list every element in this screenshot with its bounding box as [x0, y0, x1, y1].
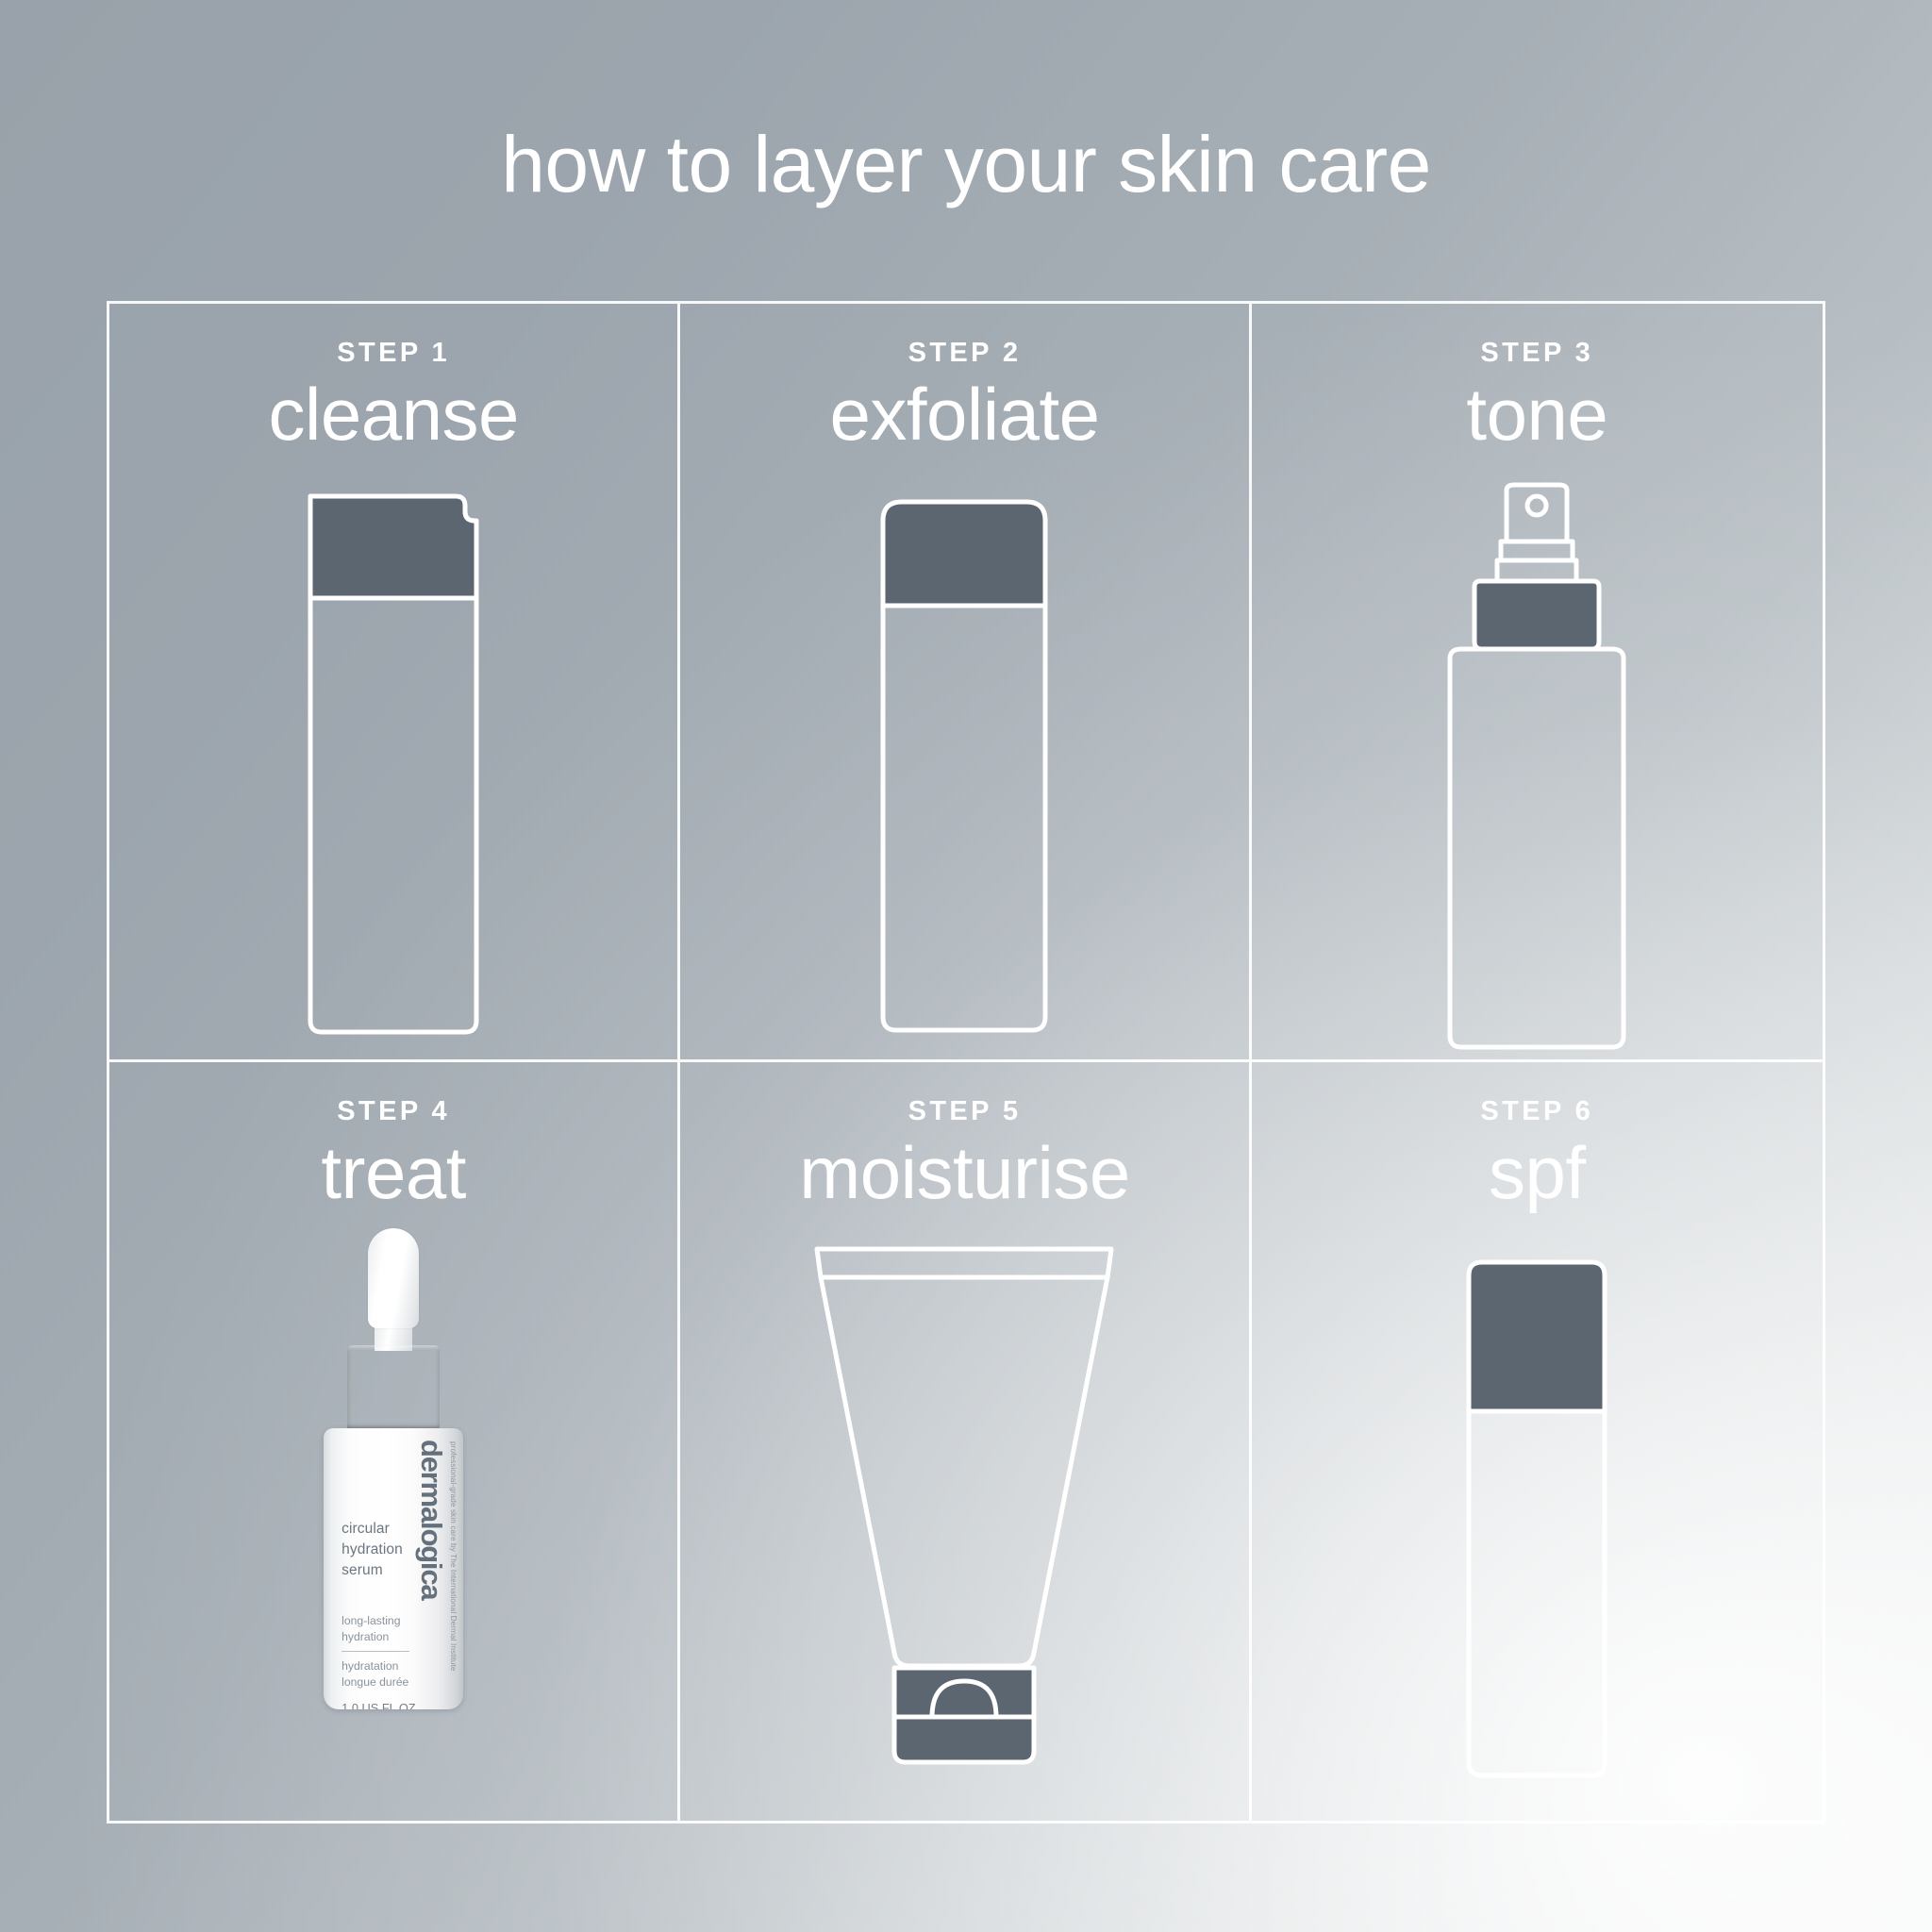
product-name-line: hydration [341, 1540, 403, 1560]
step-heading: STEP 1 cleanse [109, 340, 677, 454]
step-heading: STEP 4 treat [109, 1098, 677, 1212]
product-name: circular hydration serum [341, 1519, 403, 1581]
step-name: spf [1252, 1133, 1823, 1212]
step-card-tone[interactable]: STEP 3 tone [1252, 304, 1823, 1062]
step-name: treat [109, 1133, 677, 1212]
claim-english: long-lasting hydration [341, 1613, 400, 1645]
claim-line: hydration [341, 1629, 400, 1645]
step-heading: STEP 6 spf [1252, 1098, 1823, 1212]
product-illustration [680, 483, 1248, 1033]
volume-label: 1.0 US FL OZ 30 mL ℮ [341, 1700, 415, 1709]
page-title: how to layer your skin care [0, 125, 1932, 204]
moisturiser-tube-icon [804, 1241, 1124, 1770]
step-card-moisturise[interactable]: STEP 5 moisturise [680, 1062, 1251, 1821]
product-name-line: circular [341, 1519, 403, 1540]
bottle-body: dermalogica professional-grade skin care… [324, 1428, 463, 1709]
steps-grid: STEP 1 cleanse STEP 2 exfoliate [107, 301, 1825, 1824]
step-heading: STEP 3 tone [1252, 340, 1823, 454]
exfoliant-tube-icon [860, 483, 1068, 1049]
toner-spray-bottle-icon [1433, 483, 1641, 1068]
metallic-collar [347, 1345, 440, 1430]
brand-wordmark: dermalogica [417, 1440, 446, 1599]
step-kicker: STEP 1 [109, 340, 677, 367]
step-kicker: STEP 5 [680, 1098, 1248, 1125]
step-name: moisturise [680, 1133, 1248, 1212]
cleanser-bottle-icon [290, 483, 497, 1049]
step-name: cleanse [109, 375, 677, 454]
step-kicker: STEP 4 [109, 1098, 677, 1125]
claim-line: long-lasting [341, 1613, 400, 1629]
product-name-line: serum [341, 1560, 403, 1581]
step-card-exfoliate[interactable]: STEP 2 exfoliate [680, 304, 1251, 1062]
infographic-canvas: how to layer your skin care STEP 1 clean… [0, 0, 1932, 1932]
brand-tagline: professional-grade skin care by The Inte… [449, 1441, 457, 1672]
dropper-bulb [368, 1228, 419, 1328]
step-heading: STEP 2 exfoliate [680, 340, 1248, 454]
step-name: exfoliate [680, 375, 1248, 454]
product-illustration [109, 483, 677, 1033]
spf-bottle-icon [1433, 1241, 1641, 1807]
step-heading: STEP 5 moisturise [680, 1098, 1248, 1212]
volume-imperial: 1.0 US FL OZ [341, 1700, 415, 1709]
step-kicker: STEP 3 [1252, 340, 1823, 367]
claim-french: hydratation longue durée [341, 1658, 408, 1690]
step-card-treat[interactable]: STEP 4 treat dermalogica professional-gr… [109, 1062, 680, 1821]
claim-line: longue durée [341, 1674, 408, 1690]
step-card-cleanse[interactable]: STEP 1 cleanse [109, 304, 680, 1062]
step-kicker: STEP 2 [680, 340, 1248, 367]
step-kicker: STEP 6 [1252, 1098, 1823, 1125]
product-illustration [1252, 1241, 1823, 1794]
step-name: tone [1252, 375, 1823, 454]
step-card-spf[interactable]: STEP 6 spf [1252, 1062, 1823, 1821]
product-illustration [680, 1241, 1248, 1794]
serum-dropper-bottle-icon: dermalogica professional-grade skin care… [322, 1228, 465, 1709]
claim-divider [341, 1651, 409, 1652]
claim-line: hydratation [341, 1658, 408, 1674]
product-illustration [1252, 483, 1823, 1033]
